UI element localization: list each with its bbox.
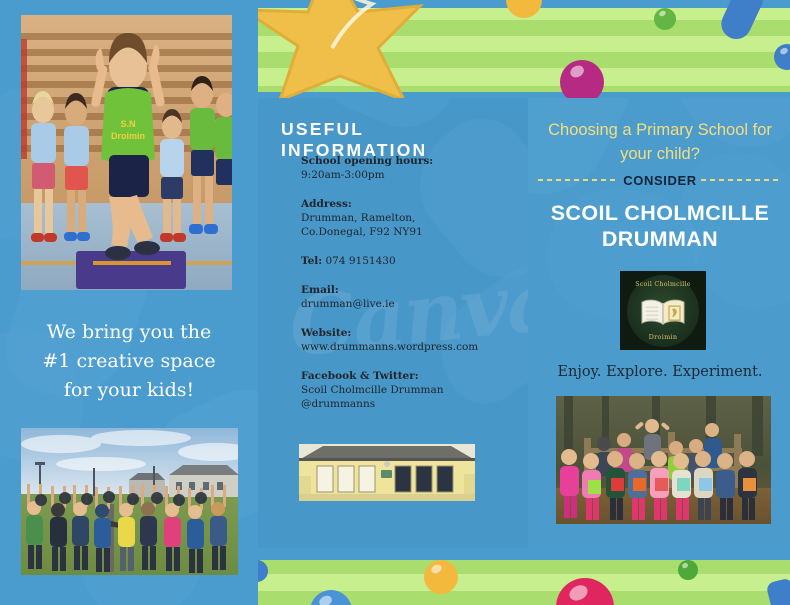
info-item-opening-hours: School opening hours: 9:20am-3:00pm: [301, 154, 516, 182]
info-item-email: Email: drumman@live.ie: [301, 283, 516, 311]
info-label: Facebook & Twitter:: [301, 369, 516, 383]
brochure-page: S.N Droimin We bring you the #1 creative…: [0, 0, 790, 605]
open-book-icon: [639, 298, 687, 326]
dashed-line-left: [538, 179, 619, 181]
right-question-text: Choosing a Primary School for your child…: [538, 118, 782, 166]
school-building-photo-image: [299, 444, 475, 501]
info-item-tel: Tel: 074 9151430: [301, 254, 516, 268]
info-value[interactable]: www.drummanns.wordpress.com: [301, 340, 516, 354]
info-item-website: Website: www.drummanns.wordpress.com: [301, 326, 516, 354]
consider-label: CONSIDER: [623, 173, 696, 188]
info-label: Website:: [301, 326, 516, 340]
info-value[interactable]: Scoil Cholmcille Drumman @drummanns: [301, 383, 516, 411]
school-tagline: Enjoy. Explore. Experiment.: [538, 364, 782, 380]
group-outdoors-photo: [21, 428, 238, 575]
school-building-photo: [299, 444, 475, 501]
magenta-ball: [560, 60, 604, 98]
child-jumping-photo: S.N Droimin: [21, 15, 232, 290]
info-value: Drumman, Ramelton, Co.Donegal, F92 NY91: [301, 211, 516, 239]
info-item-social: Facebook & Twitter: Scoil Cholmcille Dru…: [301, 369, 516, 411]
top-candy-banner: [258, 0, 790, 98]
info-value[interactable]: 074 9151430: [326, 255, 396, 267]
bottom-candy-banner: [258, 548, 790, 605]
school-title: SCOIL CHOLMCILLE DRUMMAN: [535, 200, 785, 252]
orange-ball: [424, 560, 458, 594]
info-label: School opening hours:: [301, 154, 516, 168]
left-column-caption: We bring you the #1 creative space for y…: [30, 318, 228, 405]
school-crest-logo: Scoil Cholmcille Droimin: [620, 271, 706, 350]
woodland-class-photo-image: [556, 396, 771, 524]
dashed-line-right: [701, 179, 782, 181]
info-label: Tel:: [301, 255, 322, 267]
info-value: 9:20am-3:00pm: [301, 168, 516, 182]
svg-text:Droimin: Droimin: [111, 131, 145, 141]
consider-divider: CONSIDER: [538, 169, 782, 191]
info-value[interactable]: drumman@live.ie: [301, 297, 516, 311]
green-ball: [654, 8, 676, 30]
svg-text:S.N: S.N: [120, 119, 135, 129]
info-label: Email:: [301, 283, 516, 297]
green-ball: [678, 560, 698, 580]
info-tel-line: Tel: 074 9151430: [301, 254, 516, 268]
woodland-class-photo: [556, 396, 771, 524]
useful-information-list: School opening hours: 9:20am-3:00pm Addr…: [301, 154, 516, 426]
logo-arc-top-text: Scoil Cholmcille: [620, 281, 706, 288]
child-jumping-photo-image: S.N Droimin: [21, 15, 232, 290]
gold-star-decoration: [258, 0, 478, 98]
group-outdoors-photo-image: [21, 428, 238, 575]
info-label: Address:: [301, 197, 516, 211]
info-item-address: Address: Drumman, Ramelton, Co.Donegal, …: [301, 197, 516, 239]
logo-arc-bottom-text: Droimin: [620, 333, 706, 341]
